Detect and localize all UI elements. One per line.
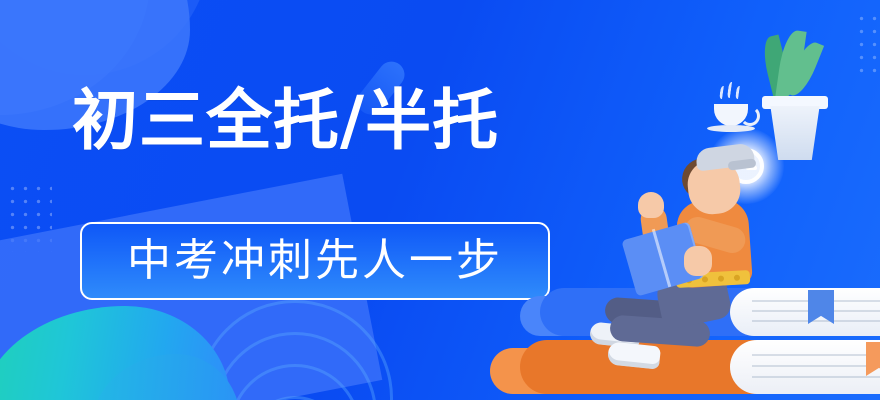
orange-bookmark-icon — [866, 342, 880, 376]
blue-book-pages — [730, 288, 880, 336]
promo-banner: 初三全托/半托 中考冲刺先人一步 — [0, 0, 880, 400]
subtitle-box: 中考冲刺先人一步 — [80, 222, 550, 300]
banner-subtitle: 中考冲刺先人一步 — [127, 239, 503, 283]
blue-bookmark-icon — [808, 290, 834, 324]
orange-book-pages — [730, 340, 880, 394]
hand-holding-tablet — [684, 246, 712, 276]
banner-illustration — [580, 0, 880, 400]
banner-headline: 初三全托/半托 — [72, 88, 499, 154]
hand-raised — [638, 192, 664, 218]
